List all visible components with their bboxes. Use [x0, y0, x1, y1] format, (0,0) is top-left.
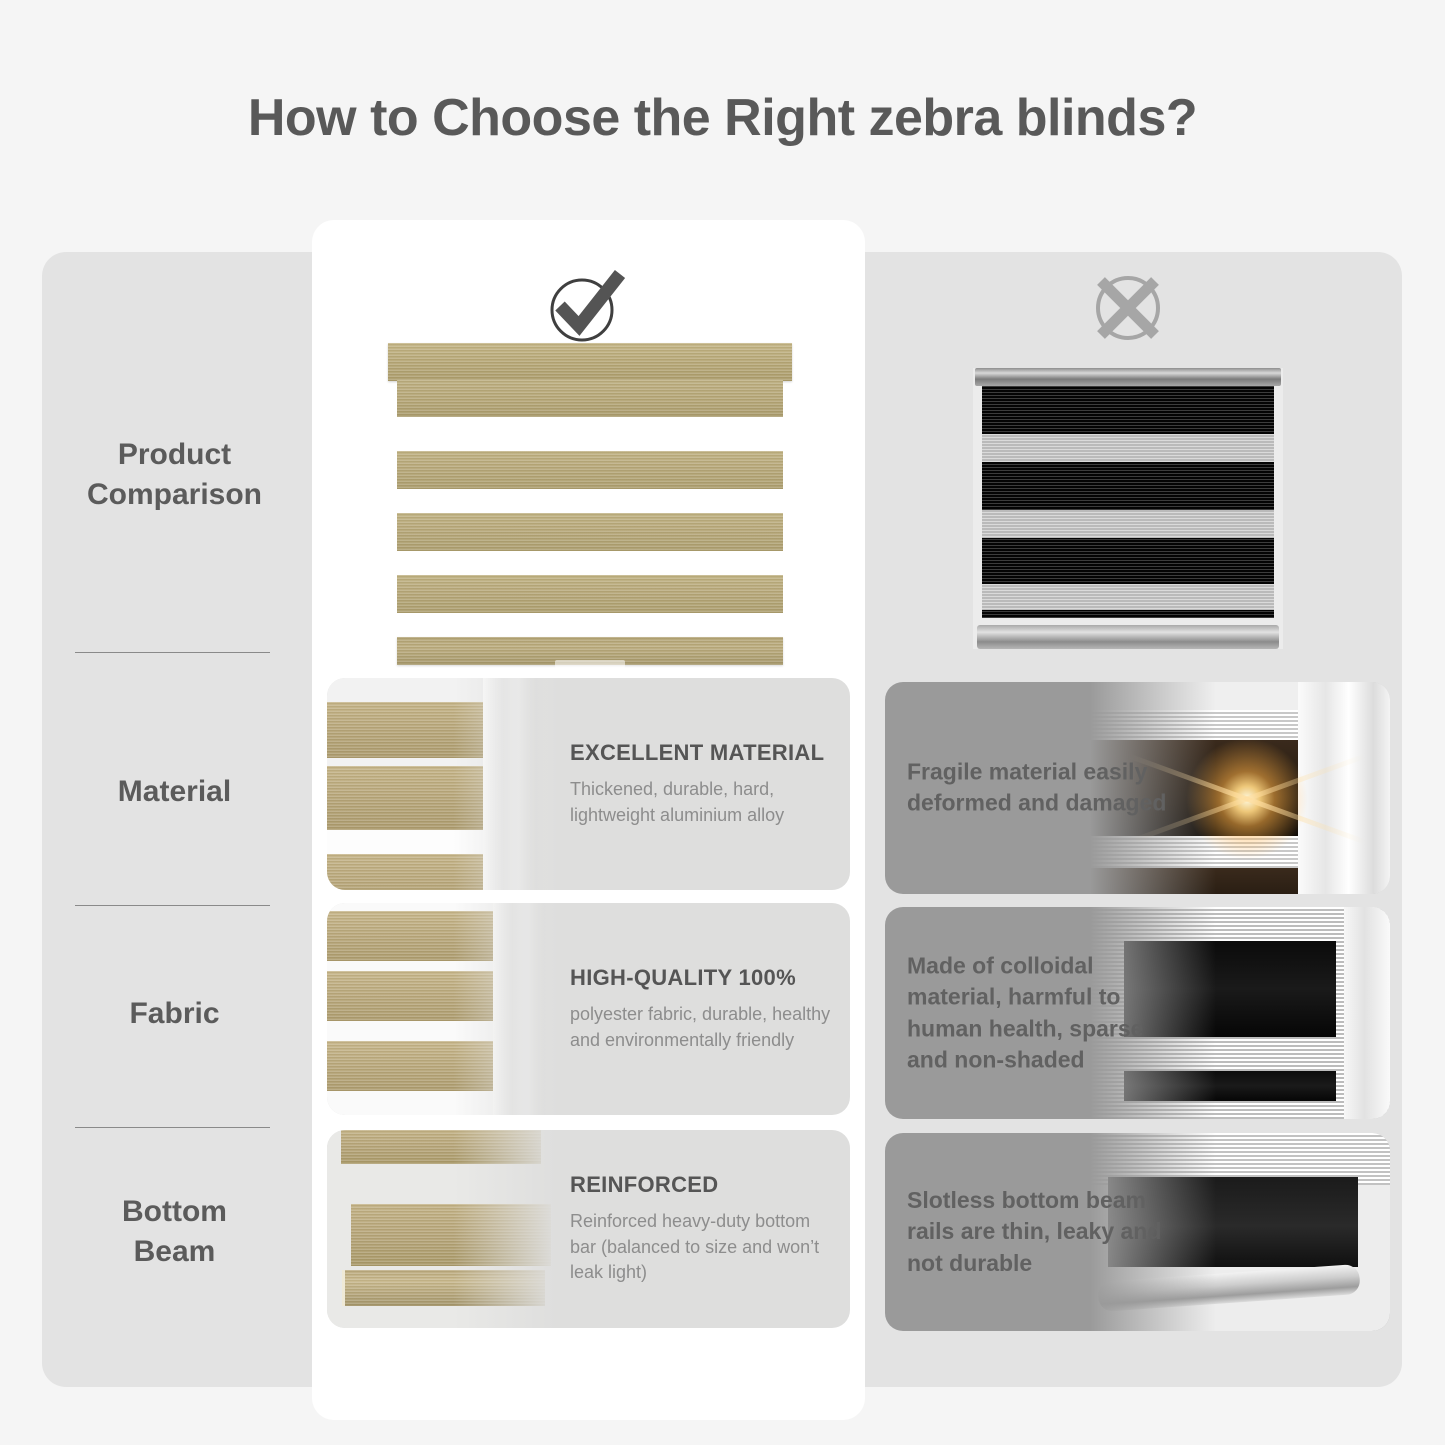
blind-headrail [975, 368, 1281, 386]
good-hero-blind-image [388, 343, 792, 668]
row-label-line1: Product [42, 435, 307, 475]
feature-title: REINFORCED [570, 1172, 832, 1198]
blind-fabric [982, 386, 1274, 618]
blind-bottom-bar [397, 637, 783, 665]
row-label-material: Material [42, 772, 307, 812]
cross-circle-icon [1082, 262, 1174, 354]
row-label-line2: Beam [42, 1232, 307, 1272]
check-circle-icon [540, 258, 632, 350]
feature-text: Made of colloidal material, harmful to h… [907, 950, 1167, 1075]
blind-slat [397, 513, 783, 551]
row-divider [75, 905, 270, 906]
feature-body: Reinforced heavy-duty bottom bar (balanc… [570, 1209, 832, 1286]
row-divider [75, 1127, 270, 1128]
bad-feature-card-fabric[interactable]: Made of colloidal material, harmful to h… [885, 907, 1390, 1119]
blind-headrail-lip [397, 380, 783, 417]
blind-slat [397, 575, 783, 613]
feature-image [327, 903, 557, 1115]
row-label-line2: Comparison [42, 475, 307, 515]
row-label-line1: Material [42, 772, 307, 812]
feature-body: Thickened, durable, hard, lightweight al… [570, 777, 832, 828]
row-divider [75, 652, 270, 653]
page-title: How to Choose the Right zebra blinds? [0, 88, 1445, 148]
feature-title: HIGH-QUALITY 100% [570, 965, 832, 991]
feature-image [327, 1130, 557, 1328]
row-label-product-comparison: Product Comparison [42, 435, 307, 514]
feature-text: Slotless bottom beam rails are thin, lea… [907, 1185, 1167, 1279]
blind-bottom-bar [977, 625, 1279, 649]
row-label-bottom-beam: Bottom Beam [42, 1192, 307, 1271]
feature-text: Fragile material easily deformed and dam… [907, 757, 1167, 820]
feature-image [327, 678, 557, 890]
bad-feature-card-bottom-beam[interactable]: Slotless bottom beam rails are thin, lea… [885, 1133, 1390, 1331]
row-label-column: Product Comparison Material Fabric Botto… [42, 252, 307, 1387]
row-label-line1: Bottom [42, 1192, 307, 1232]
good-feature-card-fabric[interactable]: HIGH-QUALITY 100% polyester fabric, dura… [327, 903, 850, 1115]
row-label-line1: Fabric [42, 994, 307, 1034]
feature-title: EXCELLENT MATERIAL [570, 740, 832, 766]
row-label-fabric: Fabric [42, 994, 307, 1034]
blind-headrail [388, 343, 792, 381]
bad-feature-card-material[interactable]: Fragile material easily deformed and dam… [885, 682, 1390, 894]
feature-body: polyester fabric, durable, healthy and e… [570, 1002, 832, 1053]
bad-hero-blind-image [973, 368, 1283, 649]
good-feature-card-material[interactable]: EXCELLENT MATERIAL Thickened, durable, h… [327, 678, 850, 890]
blind-slat [397, 451, 783, 489]
good-feature-card-bottom-beam[interactable]: REINFORCED Reinforced heavy-duty bottom … [327, 1130, 850, 1328]
